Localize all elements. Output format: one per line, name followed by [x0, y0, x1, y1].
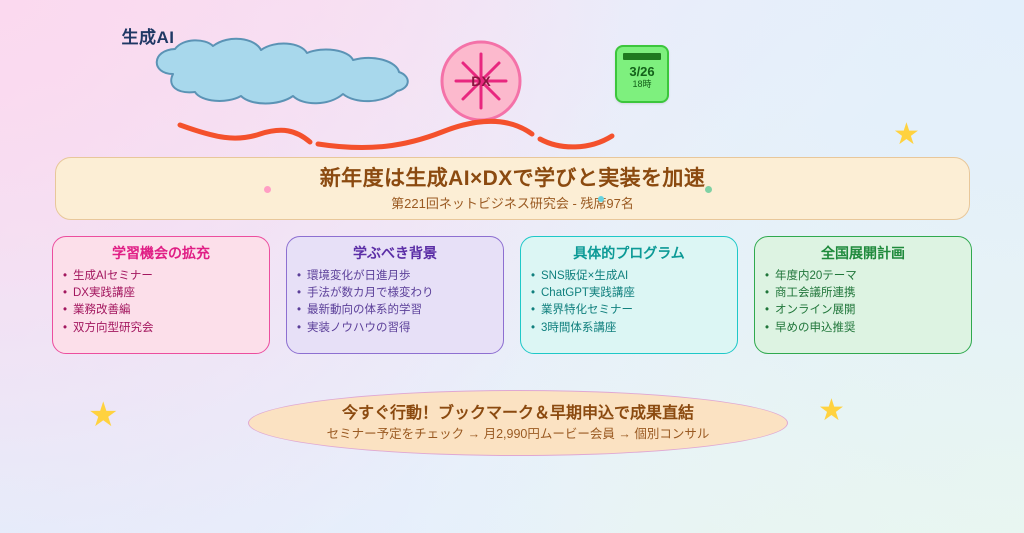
card-nationwide-plan: 全国展開計画 年度内20テーマ 商工会議所連携 オンライン展開 早めの申込推奨 [754, 236, 972, 354]
star-icon: ★ [893, 120, 920, 150]
card-title: 全国展開計画 [765, 245, 961, 263]
list-item: 業界特化セミナー [531, 302, 727, 319]
list-item: 環境変化が日進月歩 [297, 268, 493, 285]
card-title: 学ぶべき背景 [297, 245, 493, 263]
card-title: 学習機会の拡充 [63, 245, 259, 263]
calendar-date: 3/26 [629, 65, 654, 79]
card-background: 学ぶべき背景 環境変化が日進月歩 手法が数カ月で様変わり 最新動向の体系的学習 … [286, 236, 504, 354]
card-program: 具体的プログラム SNS販促×生成AI ChatGPT実践講座 業界特化セミナー… [520, 236, 738, 354]
list-item: 商工会議所連携 [765, 285, 961, 302]
cloud-label: 生成AI [0, 0, 280, 70]
card-row: 学習機会の拡充 生成AIセミナー DX実践講座 業務改善編 双方向型研究会 学ぶ… [52, 236, 972, 354]
list-item: SNS販促×生成AI [531, 268, 727, 285]
cta-subtitle: セミナー予定をチェック → 月2,990円ムービー会員 → 個別コンサル [327, 427, 710, 442]
list-item: 生成AIセミナー [63, 268, 259, 285]
list-item: 3時間体系講座 [531, 320, 727, 337]
list-item: 実装ノウハウの習得 [297, 320, 493, 337]
cta-callout: 今すぐ行動！ブックマーク＆早期申込で成果直結 セミナー予定をチェック → 月2,… [248, 390, 788, 456]
list-item: 最新動向の体系的学習 [297, 302, 493, 319]
list-item: DX実践講座 [63, 285, 259, 302]
list-item: 手法が数カ月で様変わり [297, 285, 493, 302]
banner-dot-blue [598, 196, 604, 202]
squiggle-divider [170, 112, 640, 157]
card-item-list: 生成AIセミナー DX実践講座 業務改善編 双方向型研究会 [63, 268, 259, 338]
banner-title: 新年度は生成AI×DXで学びと実装を加速 [320, 166, 705, 191]
list-item: 双方向型研究会 [63, 320, 259, 337]
cta-title: 今すぐ行動！ブックマーク＆早期申込で成果直結 [342, 404, 694, 423]
calendar-header-bar [623, 53, 661, 60]
banner-dot-green [705, 186, 712, 193]
card-item-list: 環境変化が日進月歩 手法が数カ月で様変わり 最新動向の体系的学習 実装ノウハウの… [297, 268, 493, 338]
calendar-badge: 3/26 18時 [615, 45, 669, 103]
card-item-list: 年度内20テーマ 商工会議所連携 オンライン展開 早めの申込推奨 [765, 268, 961, 338]
list-item: 早めの申込推奨 [765, 320, 961, 337]
card-item-list: SNS販促×生成AI ChatGPT実践講座 業界特化セミナー 3時間体系講座 [531, 268, 727, 338]
star-icon: ★ [818, 396, 845, 426]
list-item: オンライン展開 [765, 302, 961, 319]
star-icon: ★ [88, 398, 118, 432]
banner-dot-pink [264, 186, 271, 193]
card-title: 具体的プログラム [531, 245, 727, 263]
list-item: 年度内20テーマ [765, 268, 961, 285]
infographic-canvas: 生成AI DX 3/26 18時 新年度は生成AI×DXで学びと実装を加速 第2… [0, 0, 1024, 533]
dx-label: DX [440, 40, 522, 122]
list-item: ChatGPT実践講座 [531, 285, 727, 302]
main-banner: 新年度は生成AI×DXで学びと実装を加速 第221回ネットビジネス研究会 - 残… [55, 157, 970, 220]
calendar-time: 18時 [632, 79, 651, 91]
card-learning-expansion: 学習機会の拡充 生成AIセミナー DX実践講座 業務改善編 双方向型研究会 [52, 236, 270, 354]
list-item: 業務改善編 [63, 302, 259, 319]
